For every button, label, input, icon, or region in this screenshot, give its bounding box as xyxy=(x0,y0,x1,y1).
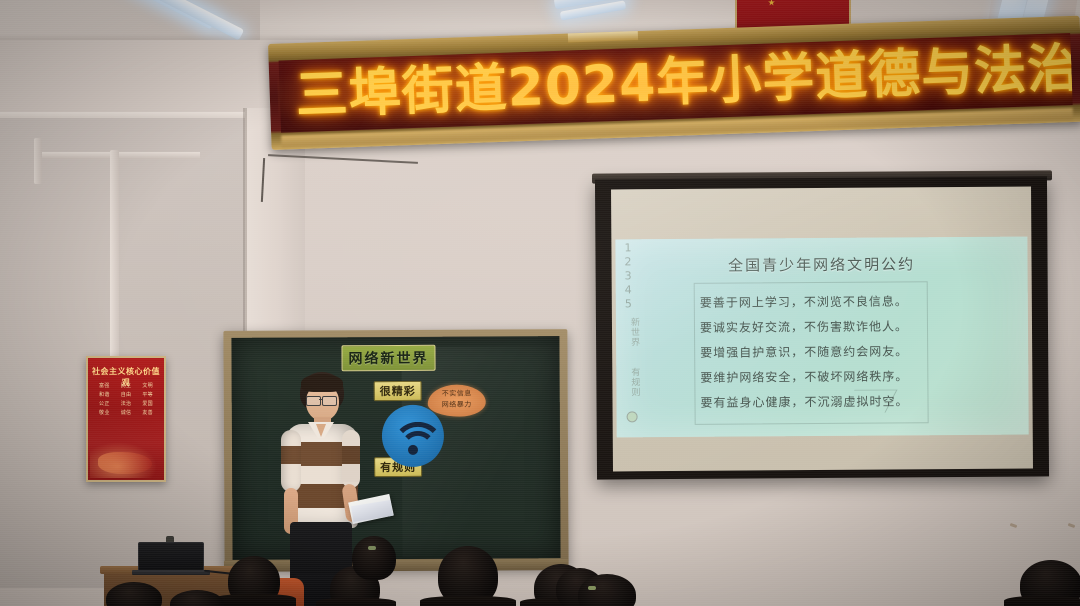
cloud-note-line-2: 网络暴力 xyxy=(428,400,486,411)
slide-rail-number: 4 xyxy=(625,283,632,296)
teacher-hair-front xyxy=(301,374,343,392)
poster-illustration xyxy=(90,440,160,478)
slide-rail-number: 1 xyxy=(624,241,631,254)
wall-left-recess xyxy=(0,118,252,588)
student-shoulders xyxy=(1004,596,1080,606)
slide-body: 要善于网上学习，不浏览不良信息。 要诚实友好交流，不伤害欺诈他人。 要增强自护意… xyxy=(700,289,931,416)
poster-value: 友善 xyxy=(137,409,158,416)
blackboard-cloud-note: 不实信息 网络暴力 xyxy=(428,385,486,417)
poster-value: 和谐 xyxy=(94,391,115,398)
poster-value: 法治 xyxy=(116,400,137,407)
projection-surface: 1 2 3 4 5 新世界 有规则 全国青少年网络文明公约 要善于网上学习，不浏… xyxy=(611,187,1033,472)
poster-values-grid: 富强 民主 文明 和谐 自由 平等 公正 法治 爱国 敬业 诚信 友善 xyxy=(94,382,158,416)
blackboard-card-top: 很精彩 xyxy=(374,381,422,401)
slide-rail-number: 5 xyxy=(625,297,632,310)
laptop-base xyxy=(132,570,210,575)
glasses-icon xyxy=(322,396,337,406)
poster-value: 爱国 xyxy=(137,400,158,407)
student-shoulders xyxy=(316,598,396,606)
core-values-poster: 社会主义核心价值观 富强 民主 文明 和谐 自由 平等 公正 法治 爱国 敬业 … xyxy=(86,356,166,482)
student-shoulders xyxy=(420,596,516,606)
projector-screen: 1 2 3 4 5 新世界 有规则 全国青少年网络文明公约 要善于网上学习，不浏… xyxy=(595,176,1049,479)
student-shoulders xyxy=(214,594,296,606)
poster-value: 平等 xyxy=(137,391,158,398)
wall-pipe-vertical xyxy=(34,138,42,184)
glasses-icon xyxy=(306,396,321,406)
slide-rail-vertical-text: 有规则 xyxy=(624,367,640,397)
banner-highlight xyxy=(568,31,638,42)
slide-title: 全国青少年网络文明公约 xyxy=(615,253,1027,277)
slide-line: 要维护网络安全，不破坏网络秩序。 xyxy=(700,364,930,391)
poster-value: 文明 xyxy=(137,382,158,389)
poster-value: 自由 xyxy=(116,391,137,398)
slide-rail-bullet-icon xyxy=(627,411,638,422)
hair-clip-icon xyxy=(588,586,596,590)
wifi-icon xyxy=(382,405,444,467)
poster-value: 民主 xyxy=(116,382,137,389)
presentation-slide: 1 2 3 4 5 新世界 有规则 全国青少年网络文明公约 要善于网上学习，不浏… xyxy=(615,237,1028,438)
cloud-note-line-1: 不实信息 xyxy=(428,389,486,400)
slide-line: 要善于网上学习，不浏览不良信息。 xyxy=(700,289,930,316)
classroom-photo-scene: 三埠街道2024年小学道德与法治优质课比赛小 1 2 3 4 5 新世界 有规则 xyxy=(0,0,1080,606)
poster-value: 公正 xyxy=(94,400,115,407)
slide-rail-vertical-text: 新世界 xyxy=(624,317,640,347)
glasses-bridge xyxy=(319,399,323,400)
teacher-arm-right xyxy=(342,430,360,488)
hair-clip-icon xyxy=(368,546,376,550)
blackboard-title-card: 网络新世界 xyxy=(341,345,435,371)
wall-pipe-horizontal xyxy=(40,152,200,159)
slide-line: 要有益身心健康，不沉溺虚拟时空。 xyxy=(700,389,930,416)
wifi-dot xyxy=(408,445,418,455)
poster-value: 敬业 xyxy=(94,409,115,416)
poster-value: 诚信 xyxy=(116,409,137,416)
slide-line: 要增强自护意识，不随意约会网友。 xyxy=(700,339,930,366)
slide-line: 要诚实友好交流，不伤害欺诈他人。 xyxy=(700,314,930,341)
teacher-arm-left xyxy=(281,430,301,492)
student-head xyxy=(352,536,396,580)
poster-value: 富强 xyxy=(94,382,115,389)
